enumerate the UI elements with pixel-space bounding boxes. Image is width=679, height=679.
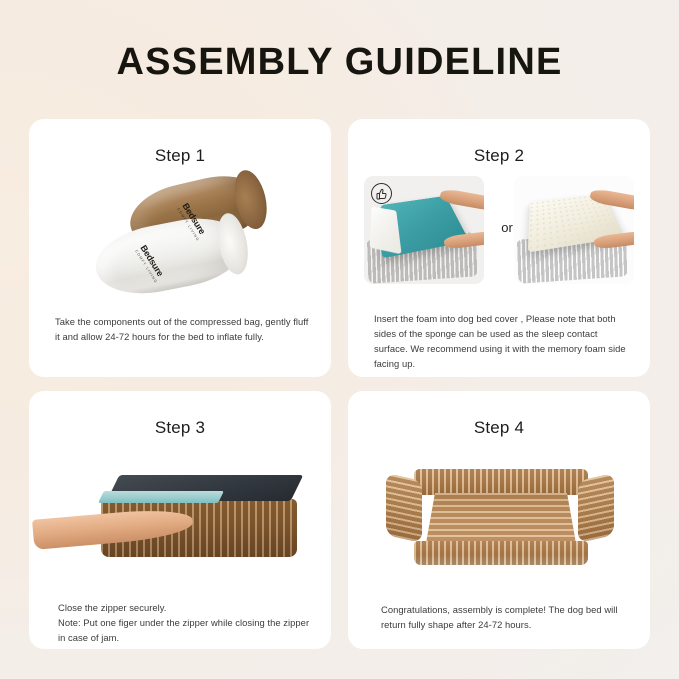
compressed-rolls-illustration: Bedsure COMFY LIVING Bedsure COMFY LIVIN…	[87, 179, 277, 299]
step-card-1: Step 1 Bedsure COMFY LIVING Bedsure COMF…	[29, 119, 331, 377]
seat-rib-texture	[426, 493, 576, 543]
bed-armrest-right	[578, 473, 614, 543]
step-2-heading: Step 2	[348, 146, 650, 166]
thumbs-up-icon	[371, 183, 392, 204]
finished-bed-illustration	[386, 469, 614, 569]
white-compressed-roll	[90, 209, 250, 302]
memory-foam-photo	[514, 176, 634, 284]
step-4-caption: Congratulations, assembly is complete! T…	[381, 603, 626, 633]
teal-foam-edge	[98, 491, 224, 503]
step-1-caption: Take the components out of the compresse…	[55, 315, 313, 345]
step-3-caption: Close the zipper securely. Note: Put one…	[58, 601, 313, 646]
bed-seat-cushion	[426, 493, 576, 543]
bed-armrest-left	[386, 473, 422, 543]
step-card-2: Step 2 or	[348, 119, 650, 377]
page-title: ASSEMBLY GUIDELINE	[0, 41, 679, 84]
steps-grid: Step 1 Bedsure COMFY LIVING Bedsure COMF…	[29, 119, 650, 649]
bed-front-edge	[414, 541, 588, 565]
bed-backrest	[414, 469, 588, 495]
closing-zipper-illustration	[51, 469, 309, 571]
teal-foam-photo	[364, 176, 484, 284]
step-4-heading: Step 4	[348, 418, 650, 438]
backrest-rib-texture	[414, 469, 588, 495]
step-2-caption: Insert the foam into dog bed cover , Ple…	[374, 312, 632, 371]
step-3-heading: Step 3	[29, 418, 331, 438]
armrest-left-rib-texture	[386, 473, 422, 543]
step-card-4: Step 4	[348, 391, 650, 649]
step-card-3: Step 3 Close the zipper securely. Note: …	[29, 391, 331, 649]
foam-insert-illustrations: or	[364, 176, 634, 284]
step-1-heading: Step 1	[29, 146, 331, 166]
armrest-right-rib-texture	[578, 473, 614, 543]
front-edge-rib-texture	[414, 541, 588, 565]
finished-dog-bed	[386, 469, 614, 569]
assembly-guideline-page: ASSEMBLY GUIDELINE Step 1 Bedsure COMFY …	[0, 0, 679, 679]
